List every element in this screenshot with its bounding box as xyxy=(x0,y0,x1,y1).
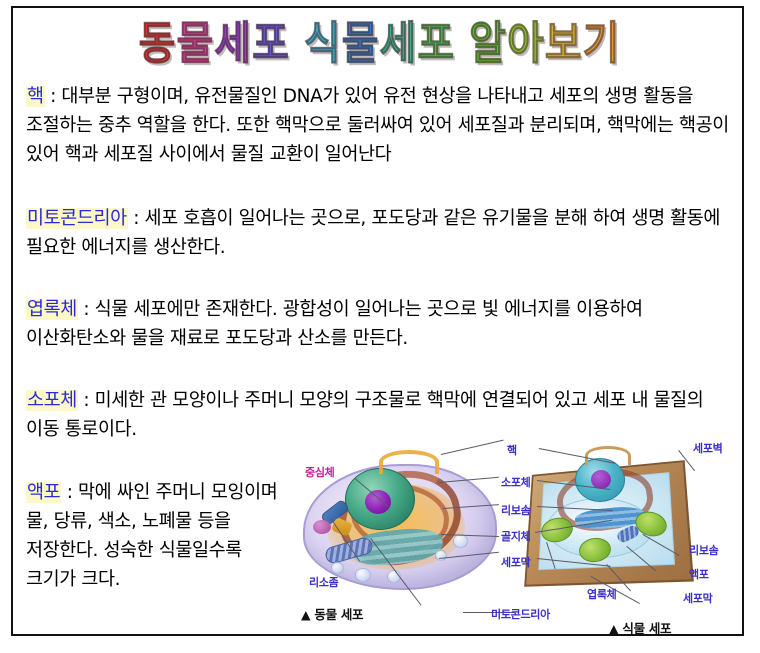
animal-vesicle-shape xyxy=(331,562,344,574)
section-vacuole: 액포 : 막에 싸인 주머니 모잉이며 물, 당류, 색소, 노폐물 등을 저장… xyxy=(26,478,288,594)
animal-nucleolus-shape xyxy=(365,490,391,514)
term-nucleus: 핵 xyxy=(26,86,45,107)
title-char: 보 xyxy=(545,17,583,71)
term-endoplasmic-reticulum: 소포체 xyxy=(26,390,78,411)
title-char: 물 xyxy=(342,17,380,71)
label-vacuole-plant: 액포 xyxy=(689,566,709,582)
caption-animal-cell: ▲ 동물 세포 xyxy=(301,604,363,623)
label-cell-membrane-plant: 세포막 xyxy=(683,590,712,606)
title-char: 세 xyxy=(214,17,252,71)
body-chloroplast: 식물 세포에만 존재한다. 광합성이 일어나는 곳으로 빛 에너지를 이용하여 … xyxy=(26,299,643,349)
cell-diagram: 중심체 리소좀 ▲ 동물 세포 핵 소포체 리보솜 골지체 세포막 미토콘드리아… xyxy=(291,426,751,638)
animal-vesicle-shape xyxy=(453,534,468,548)
title-char: 아 xyxy=(507,17,545,71)
body-nucleus: 대부분 구형이며, 유전물질인 DNA가 있어 유전 현상을 나타내고 세포의 … xyxy=(26,86,729,165)
section-mitochondria: 미토콘드리아 : 세포 호흡이 일어나는 곳으로, 포도당과 같은 유기물을 분… xyxy=(26,204,731,262)
content-frame: 동물세포식물세포알아보기 핵 : 대부분 구형이며, 유전물질인 DNA가 있어… xyxy=(11,6,744,636)
label-endoplasmic-reticulum: 소포체 xyxy=(501,474,530,490)
caption-plant-cell: ▲ 식물 세포 xyxy=(609,618,671,637)
title-char: 동 xyxy=(139,17,177,71)
animal-lysosome-shape xyxy=(313,520,331,534)
label-mitochondria: 미토콘드리아 xyxy=(491,606,550,622)
separator-vacuole: : xyxy=(61,482,78,503)
title-char: 물 xyxy=(176,17,214,71)
label-cell-wall: 세포벽 xyxy=(693,440,722,456)
animal-er-tuft-shape xyxy=(379,450,439,474)
label-golgi: 골지체 xyxy=(501,528,530,544)
animal-vesicle-shape xyxy=(355,568,371,582)
label-cell-membrane: 세포막 xyxy=(501,554,530,570)
separator-nucleus: : xyxy=(45,86,62,107)
animal-vesicle-shape xyxy=(435,550,447,561)
title-char: 기 xyxy=(583,17,621,71)
plant-cell-illustration xyxy=(517,446,693,606)
label-nucleus: 핵 xyxy=(507,442,517,458)
separator-chloroplast: : xyxy=(78,299,95,320)
title-char: 식 xyxy=(304,17,342,71)
section-chloroplast: 엽록체 : 식물 세포에만 존재한다. 광합성이 일어나는 곳으로 빛 에너지를… xyxy=(26,295,731,353)
label-ribosome-plant: 리보솜 xyxy=(689,542,718,558)
label-chloroplast-plant: 엽록체 xyxy=(587,586,616,602)
term-chloroplast: 엽록체 xyxy=(26,299,78,320)
title-char: 포 xyxy=(417,17,455,71)
section-nucleus: 핵 : 대부분 구형이며, 유전물질인 DNA가 있어 유전 현상을 나타내고 … xyxy=(26,82,731,169)
page-title: 동물세포식물세포알아보기 xyxy=(13,20,746,68)
separator-endoplasmic-reticulum: : xyxy=(78,390,95,411)
label-lysosome-animal: 리소좀 xyxy=(309,574,338,590)
term-mitochondria: 미토콘드리아 xyxy=(26,208,128,229)
page-root: 동물세포식물세포알아보기 핵 : 대부분 구형이며, 유전물질인 DNA가 있어… xyxy=(0,0,760,653)
label-centrosome: 중심체 xyxy=(305,464,334,480)
label-ribosome: 리보솜 xyxy=(501,502,530,518)
separator-mitochondria: : xyxy=(128,208,145,229)
title-char: 세 xyxy=(380,17,418,71)
title-char: 알 xyxy=(469,17,507,71)
term-vacuole: 액포 xyxy=(26,482,61,503)
title-char: 포 xyxy=(252,17,290,71)
